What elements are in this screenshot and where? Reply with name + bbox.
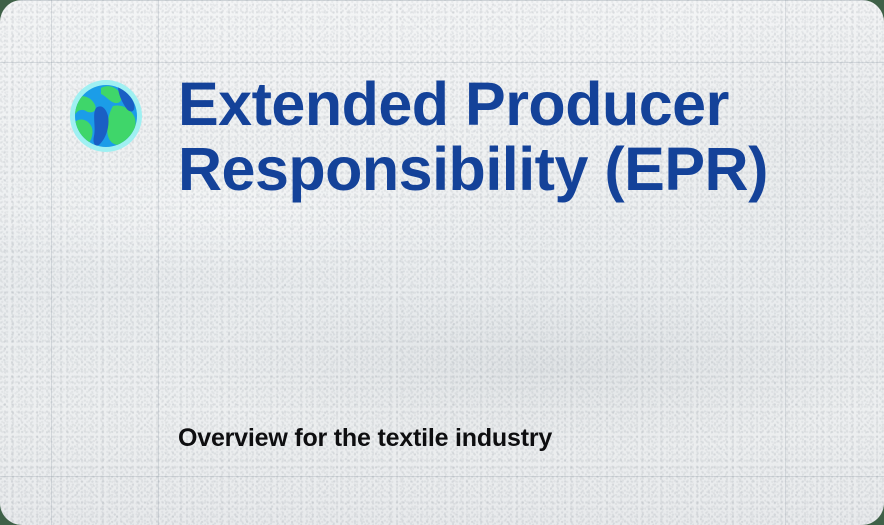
- slide-content: Extended Producer Responsibility (EPR) O…: [0, 0, 884, 525]
- earth-globe-icon: [68, 78, 144, 154]
- page-title: Extended Producer Responsibility (EPR): [178, 72, 778, 202]
- title-slide: Extended Producer Responsibility (EPR) O…: [0, 0, 884, 525]
- page-subtitle: Overview for the textile industry: [178, 423, 552, 453]
